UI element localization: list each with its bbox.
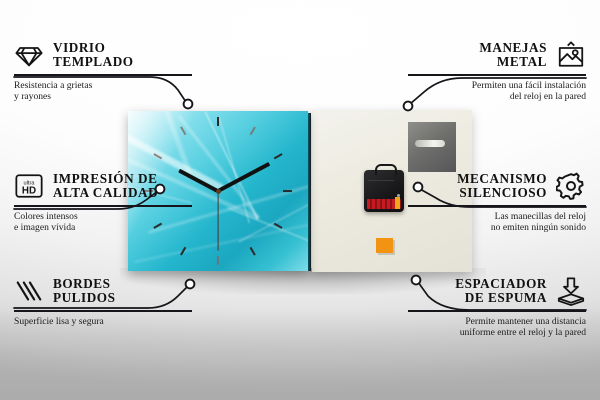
feature-title: IMPRESIÓN DE ALTA CALIDAD	[53, 172, 158, 201]
feature-bordes-pulidos[interactable]: BORDES PULIDOS Superficie lisa y segura	[14, 276, 192, 327]
feature-vidrio-templado[interactable]: VIDRIO TEMPLADO Resistencia a grietas y …	[14, 40, 192, 102]
feature-mecanismo-silencioso[interactable]: MECANISMO SILENCIOSO Las manecillas del …	[408, 171, 586, 233]
feature-header: ultra HD IMPRESIÓN DE ALTA CALIDAD	[14, 171, 192, 201]
feature-header: VIDRIO TEMPLADO	[14, 40, 192, 70]
svg-text:HD: HD	[22, 186, 36, 197]
gear-icon	[556, 171, 586, 201]
feature-description: Permite mantener una distancia uniforme …	[408, 316, 586, 339]
feature-description: Superficie lisa y segura	[14, 316, 192, 327]
feature-header: BORDES PULIDOS	[14, 276, 192, 306]
feature-title: VIDRIO TEMPLADO	[53, 41, 134, 70]
feature-rule	[14, 310, 192, 312]
feature-manejas-metal[interactable]: MANEJAS METAL Permiten una fácil instala…	[408, 40, 586, 102]
foam-spacer-icon	[556, 276, 586, 306]
ultra-hd-icon: ultra HD	[14, 171, 44, 201]
feature-header: ESPACIADOR DE ESPUMA	[408, 276, 586, 306]
feature-rule	[408, 74, 586, 76]
feature-impresion-alta-calidad[interactable]: ultra HD IMPRESIÓN DE ALTA CALIDAD Color…	[14, 171, 192, 233]
feature-title: ESPACIADOR DE ESPUMA	[455, 277, 547, 306]
feature-rule	[408, 310, 586, 312]
feature-header: MECANISMO SILENCIOSO	[408, 171, 586, 201]
feature-rule	[14, 205, 192, 207]
diamond-icon	[14, 40, 44, 70]
feature-description: Las manecillas del reloj no emiten ningú…	[408, 211, 586, 234]
feature-espaciador-espuma[interactable]: ESPACIADOR DE ESPUMA Permite mantener un…	[408, 276, 586, 338]
feature-header: MANEJAS METAL	[408, 40, 586, 70]
connector-dot-manejas	[404, 102, 413, 111]
polished-edges-icon	[14, 276, 44, 306]
feature-description: Colores intensos e imagen vívida	[14, 211, 192, 234]
infographic-canvas: VIDRIO TEMPLADO Resistencia a grietas y …	[0, 0, 600, 400]
feature-title: MECANISMO SILENCIOSO	[457, 172, 547, 201]
feature-description: Resistencia a grietas y rayones	[14, 80, 192, 103]
feature-title: BORDES PULIDOS	[53, 277, 115, 306]
feature-title: MANEJAS METAL	[479, 41, 547, 70]
picture-hanger-icon	[556, 40, 586, 70]
feature-rule	[14, 74, 192, 76]
feature-description: Permiten una fácil instalación del reloj…	[408, 80, 586, 103]
feature-rule	[408, 205, 586, 207]
